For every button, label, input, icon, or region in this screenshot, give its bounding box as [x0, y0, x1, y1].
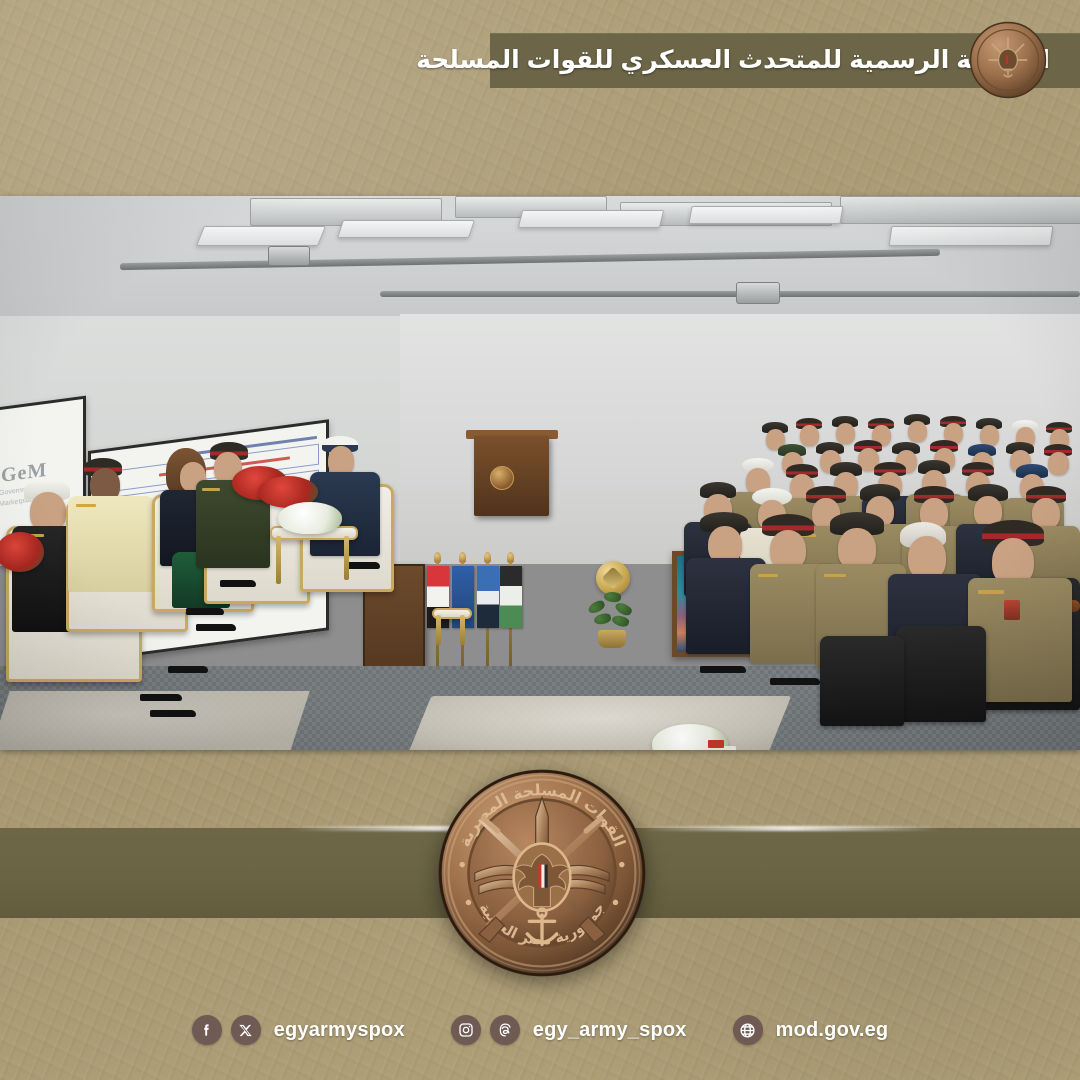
social-group-website: mod.gov.eg — [733, 1015, 889, 1045]
social-handle-instagram-threads[interactable]: egy_army_spox — [533, 1019, 687, 1042]
table-leg — [276, 536, 281, 584]
lectern — [474, 436, 549, 516]
facebook-icon[interactable] — [192, 1015, 222, 1045]
flag-palestine — [500, 566, 522, 628]
stool-leg — [460, 615, 465, 645]
ceiling-duct — [840, 196, 1080, 224]
ceiling-light — [688, 206, 843, 224]
ceiling-pipe — [380, 291, 1080, 297]
globe-icon[interactable] — [733, 1015, 763, 1045]
table-leg — [344, 536, 349, 580]
flag-navy — [477, 566, 499, 628]
floral-arrangement — [278, 502, 342, 534]
social-group-facebook-x: egyarmyspox — [192, 1015, 405, 1045]
header-emblem-icon — [969, 21, 1047, 99]
page-title: الصفحة الرسمية للمتحدث العسكري للقوات ال… — [490, 33, 1050, 88]
social-handle-facebook-x[interactable]: egyarmyspox — [274, 1019, 405, 1042]
red-folder — [708, 740, 724, 748]
threads-icon[interactable] — [490, 1015, 520, 1045]
potted-plant — [588, 588, 634, 648]
social-group-instagram-threads: egy_army_spox — [451, 1015, 687, 1045]
post-canvas: الصفحة الرسمية للمتحدث العسكري للقوات ال… — [0, 0, 1080, 1080]
area-rug — [409, 696, 792, 750]
ceiling-projector — [268, 246, 310, 266]
lectern-seal-icon — [490, 466, 514, 490]
instagram-icon[interactable] — [451, 1015, 481, 1045]
ceiling-light — [196, 226, 326, 246]
ceiling-light — [518, 210, 664, 228]
band-highlight — [640, 826, 940, 831]
rank-insignia — [1004, 600, 1020, 620]
ceiling-projector — [736, 282, 780, 304]
x-twitter-icon[interactable] — [231, 1015, 261, 1045]
ceiling-light — [889, 226, 1054, 246]
event-photo: GeM Government e Marketplace — [0, 196, 1080, 750]
stool-leg — [436, 615, 441, 645]
armchair-black — [896, 626, 986, 722]
armchair-black — [820, 636, 904, 726]
social-handle-website[interactable]: mod.gov.eg — [776, 1019, 889, 1042]
social-links-row: egyarmyspox egy_army_spox — [0, 1004, 1080, 1056]
armed-forces-emblem: القوات المسلحة المصرية جمهورية مصر العرب… — [437, 768, 647, 978]
ceiling-light — [337, 220, 475, 238]
